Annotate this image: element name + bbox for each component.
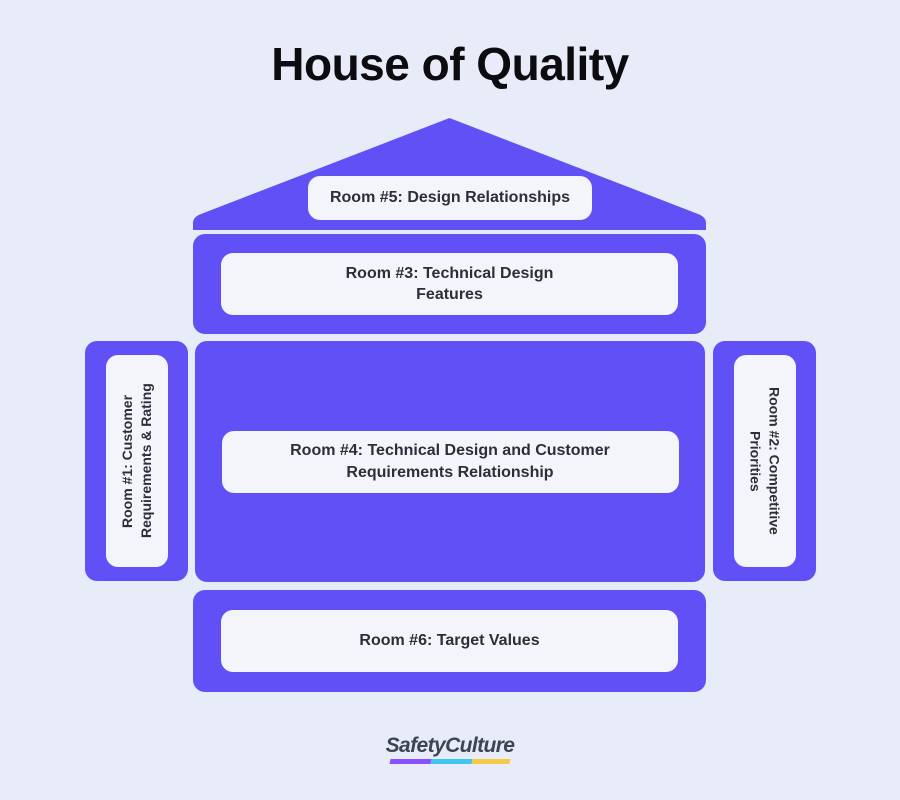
room-1-label-line2: Requirements & Rating — [137, 384, 156, 539]
room-1-label-line1: Room #1: Customer — [118, 384, 137, 539]
room-4-block[interactable]: Room #4: Technical Design and Customer R… — [195, 341, 705, 582]
room-3-label-line2: Features — [416, 284, 483, 305]
room-3-block[interactable]: Room #3: Technical Design Features — [193, 234, 706, 334]
house-of-quality-diagram: House of Quality Room #5: Design Relatio… — [0, 0, 900, 800]
room-1-label: Room #1: CustomerRequirements & Rating — [118, 384, 156, 539]
room-2-block[interactable]: Room #2: CompetitivePriorities — [713, 341, 816, 581]
room-5-label: Room #5: Design Relationships — [330, 187, 570, 208]
room-5-label-card: Room #5: Design Relationships — [308, 176, 592, 220]
room-2-label-line1: Room #2: Competitive — [765, 387, 784, 535]
room-2-label: Room #2: CompetitivePriorities — [746, 387, 784, 535]
room-4-label-line2: Requirements Relationship — [346, 462, 553, 483]
room-4-label-line1: Room #4: Technical Design and Customer — [290, 440, 610, 461]
logo-underline-segment-yellow — [471, 759, 510, 764]
room-2-label-card: Room #2: CompetitivePriorities — [734, 355, 796, 567]
room-3-label-line1: Room #3: Technical Design — [346, 263, 554, 284]
room-1-label-card: Room #1: CustomerRequirements & Rating — [106, 355, 168, 567]
room-5-roof[interactable]: Room #5: Design Relationships — [193, 118, 706, 230]
logo-wordmark: SafetyCulture — [386, 735, 515, 756]
safetyculture-logo: SafetyCulture — [0, 735, 900, 764]
room-6-label: Room #6: Target Values — [359, 630, 539, 651]
room-6-label-card: Room #6: Target Values — [221, 610, 678, 672]
room-1-block[interactable]: Room #1: CustomerRequirements & Rating — [85, 341, 188, 581]
page-title: House of Quality — [0, 38, 900, 91]
logo-underline-bar — [389, 759, 510, 764]
room-3-label-card: Room #3: Technical Design Features — [221, 253, 678, 315]
logo-underline-segment-purple — [389, 759, 431, 764]
logo-text-safety: Safety — [386, 734, 445, 757]
room-6-block[interactable]: Room #6: Target Values — [193, 590, 706, 692]
room-2-label-line2: Priorities — [746, 387, 765, 535]
logo-underline-segment-blue — [430, 759, 472, 764]
room-4-label-card: Room #4: Technical Design and Customer R… — [222, 431, 679, 493]
logo-text-culture: Culture — [445, 734, 514, 757]
